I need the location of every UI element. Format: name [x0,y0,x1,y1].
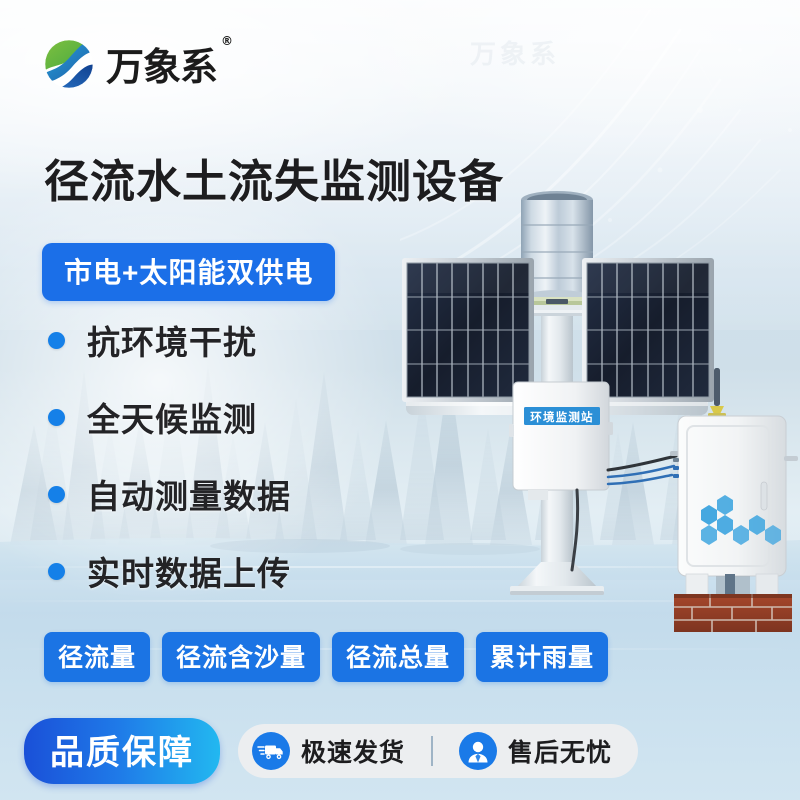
service-item-aftersales: 售后无忧 [459,732,612,770]
product-illustration: 环境监测站 [380,170,800,640]
measurement-tag-3: 径流总量 [332,632,464,682]
service-item-shipping: 极速发货 [252,732,405,770]
feature-item-2: 全天候监测 [48,393,291,441]
product-poster: 万象系 [0,0,800,800]
page-title: 径流水土流失监测设备 [44,145,504,210]
solar-panel-right-part [582,258,714,402]
measurement-tag-1: 径流量 [44,632,150,682]
feature-label-2: 全天候监测 [87,393,257,441]
brick-base-part [674,594,792,632]
feature-item-3: 自动测量数据 [48,470,291,518]
solar-panel-left-part [402,258,534,402]
feature-list: 抗环境干扰 全天候监测 自动测量数据 实时数据上传 [48,316,291,595]
globe-swoosh-logo-icon [42,37,96,91]
feature-item-4: 实时数据上传 [48,547,291,595]
bullet-dot-icon [48,563,65,580]
service-divider [431,736,433,766]
power-supply-badge: 市电+太阳能双供电 [42,243,335,301]
measurement-tag-list: 径流量 径流含沙量 径流总量 累计雨量 [44,632,608,682]
feature-label-1: 抗环境干扰 [87,316,257,364]
feature-item-1: 抗环境干扰 [48,316,291,364]
background-watermark: 万象系 [470,34,700,94]
service-bar: 品质保障 [24,718,638,784]
service-label-shipping: 极速发货 [301,733,405,769]
bullet-dot-icon [48,332,65,349]
svg-text:环境监测站: 环境监测站 [530,410,594,424]
measurement-tag-4: 累计雨量 [476,632,608,682]
delivery-truck-icon [252,732,290,770]
trademark-symbol: ® [221,34,232,48]
bullet-dot-icon [48,486,65,503]
feature-label-3: 自动测量数据 [87,470,291,518]
measurement-tag-2: 径流含沙量 [162,632,320,682]
service-promise-group: 极速发货 售后无忧 [238,724,638,778]
bullet-dot-icon [48,409,65,426]
feature-label-4: 实时数据上传 [87,547,291,595]
quality-guarantee-badge: 品质保障 [24,718,220,784]
brand-name: 万象系 ® [106,36,217,91]
service-label-aftersales: 售后无忧 [508,733,612,769]
brand-name-text: 万象系 [106,45,217,89]
customer-service-person-icon [459,732,497,770]
brand-logo[interactable]: 万象系 ® [42,36,217,91]
